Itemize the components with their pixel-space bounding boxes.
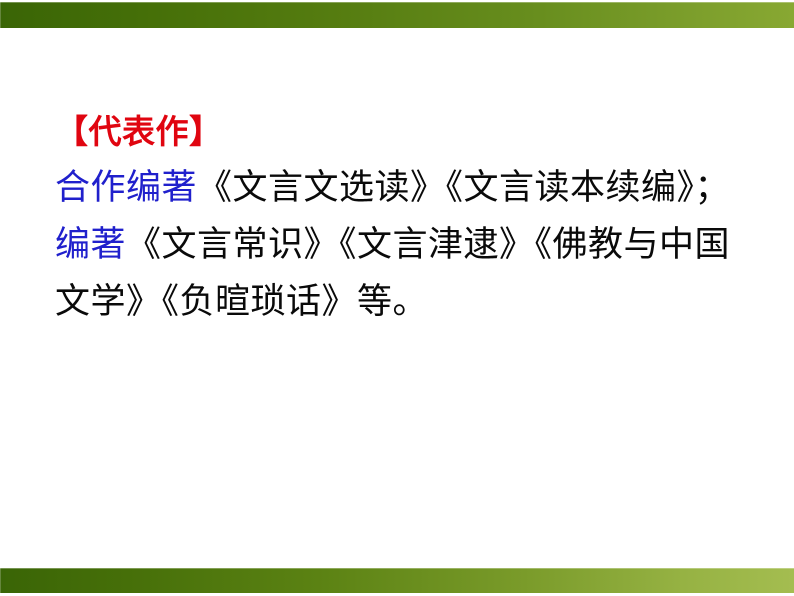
slide-content: 【代表作】 合作编著《文言文选读》《文言读本续编》； 编著《文言常识》《文言津逮… bbox=[55, 104, 745, 331]
line-3-text: 文学》《负暄琐话》等。 bbox=[55, 282, 428, 322]
body-line-1: 合作编著《文言文选读》《文言读本续编》； bbox=[55, 160, 745, 217]
slide-canvas: 【代表作】 合作编著《文言文选读》《文言读本续编》； 编著《文言常识》《文言津逮… bbox=[0, 0, 794, 596]
line-1-emphasis: 合作编著 bbox=[55, 168, 197, 208]
line-1-text: 《文言文选读》《文言读本续编》； bbox=[197, 168, 730, 208]
body-line-3: 文学》《负暄琐话》等。 bbox=[55, 274, 745, 331]
bottom-decorative-bar bbox=[0, 568, 794, 593]
section-heading: 【代表作】 bbox=[55, 104, 745, 160]
body-line-2: 编著《文言常识》《文言津逮》《佛教与中国 bbox=[55, 217, 745, 274]
line-2-emphasis: 编著 bbox=[55, 225, 126, 265]
top-decorative-bar bbox=[0, 2, 794, 28]
line-2-text: 《文言常识》《文言津逮》《佛教与中国 bbox=[126, 225, 730, 265]
